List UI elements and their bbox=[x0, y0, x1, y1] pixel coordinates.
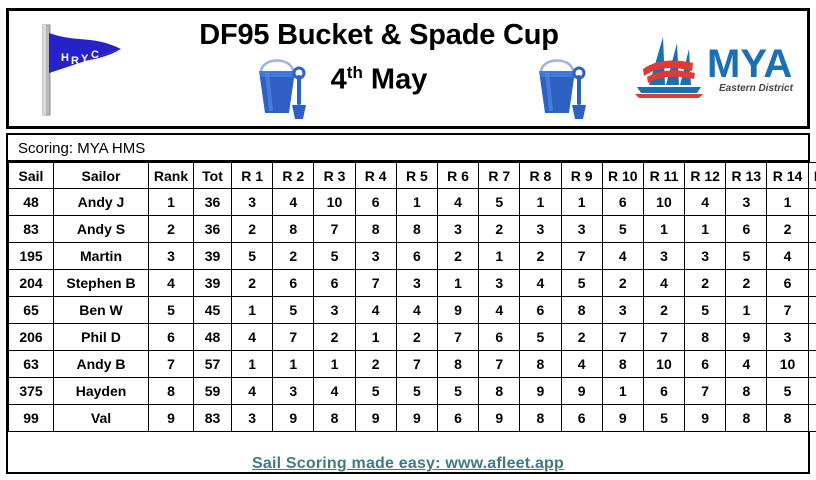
cell-sail-number: 375 bbox=[9, 378, 54, 405]
results-table-header: Sail Sailor Rank Tot R 1 R 2 R 3 R 4 R 5… bbox=[9, 163, 816, 189]
cell-race-score-r14: 2 bbox=[767, 216, 808, 243]
cell-sail-number: 206 bbox=[9, 324, 54, 351]
cell-race-score-r14: 6 bbox=[767, 270, 808, 297]
cell-race-score-r11: 7 bbox=[643, 324, 684, 351]
cell-race-score-r8: 8 bbox=[520, 405, 561, 432]
column-header-r1: R 1 bbox=[232, 163, 273, 189]
cell-race-score-r2: 1 bbox=[273, 351, 314, 378]
column-header-r6: R 6 bbox=[437, 163, 478, 189]
cell-race-score-r8: 5 bbox=[520, 324, 561, 351]
cell-race-score-r7: 8 bbox=[479, 378, 520, 405]
column-header-r11: R 11 bbox=[643, 163, 684, 189]
event-date-day: 4 bbox=[331, 64, 347, 96]
cell-race-score-r10: 5 bbox=[602, 216, 643, 243]
svg-text:Y: Y bbox=[81, 53, 89, 65]
cell-race-score-r2: 5 bbox=[273, 297, 314, 324]
cell-race-score-r15: 3 bbox=[808, 189, 816, 216]
cell-race-score-r14: 8 bbox=[767, 405, 808, 432]
cell-race-score-r8: 6 bbox=[520, 297, 561, 324]
cell-race-score-r15: 10 bbox=[808, 351, 816, 378]
cell-race-score-r7: 1 bbox=[479, 243, 520, 270]
cell-race-score-r9: 2 bbox=[561, 324, 602, 351]
cell-race-score-r10: 8 bbox=[602, 351, 643, 378]
cell-race-score-r7: 7 bbox=[479, 351, 520, 378]
cell-race-score-r13: 1 bbox=[726, 297, 767, 324]
cell-sailor-name: Andy B bbox=[54, 351, 149, 378]
cell-race-score-r8: 9 bbox=[520, 378, 561, 405]
column-header-r9: R 9 bbox=[561, 163, 602, 189]
column-header-r5: R 5 bbox=[396, 163, 437, 189]
column-header-sailor: Sailor bbox=[54, 163, 149, 189]
cell-race-score-r9: 7 bbox=[561, 243, 602, 270]
cell-race-score-r1: 3 bbox=[232, 405, 273, 432]
column-header-r4: R 4 bbox=[355, 163, 396, 189]
table-row[interactable]: 99Val983398996986959884 bbox=[9, 405, 816, 432]
cell-sail-number: 204 bbox=[9, 270, 54, 297]
cell-total-points: 57 bbox=[194, 351, 232, 378]
title-block: DF95 Bucket & Spade Cup 4th May bbox=[139, 11, 619, 126]
cell-race-score-r11: 10 bbox=[643, 189, 684, 216]
cell-sail-number: 99 bbox=[9, 405, 54, 432]
cell-race-score-r4: 7 bbox=[355, 270, 396, 297]
cell-total-points: 59 bbox=[194, 378, 232, 405]
cell-race-score-r12: 4 bbox=[685, 189, 726, 216]
cell-race-score-r11: 1 bbox=[643, 216, 684, 243]
column-header-r15: R 15 bbox=[808, 163, 816, 189]
cell-total-points: 48 bbox=[194, 324, 232, 351]
cell-race-score-r11: 10 bbox=[643, 351, 684, 378]
cell-race-score-r12: 8 bbox=[685, 324, 726, 351]
cell-race-score-r2: 8 bbox=[273, 216, 314, 243]
table-row[interactable]: 204Stephen B439266731345242265 bbox=[9, 270, 816, 297]
cell-race-score-r6: 5 bbox=[437, 378, 478, 405]
cell-race-score-r9: 8 bbox=[561, 297, 602, 324]
cell-race-score-r6: 6 bbox=[437, 405, 478, 432]
cell-race-score-r8: 1 bbox=[520, 189, 561, 216]
cell-race-score-r1: 2 bbox=[232, 216, 273, 243]
event-title: DF95 Bucket & Spade Cup bbox=[139, 19, 619, 52]
cell-race-score-r3: 8 bbox=[314, 405, 355, 432]
cell-race-score-r5: 7 bbox=[396, 351, 437, 378]
cell-race-score-r15: 2 bbox=[808, 324, 816, 351]
cell-race-score-r3: 2 bbox=[314, 324, 355, 351]
cell-race-score-r6: 4 bbox=[437, 189, 478, 216]
cell-race-score-r7: 4 bbox=[479, 297, 520, 324]
svg-text:H: H bbox=[61, 52, 70, 64]
cell-race-score-r10: 9 bbox=[602, 405, 643, 432]
cell-total-points: 36 bbox=[194, 216, 232, 243]
cell-race-score-r1: 4 bbox=[232, 324, 273, 351]
cell-race-score-r13: 4 bbox=[726, 351, 767, 378]
cell-rank: 5 bbox=[149, 297, 194, 324]
column-header-r12: R 12 bbox=[685, 163, 726, 189]
column-header-r3: R 3 bbox=[314, 163, 355, 189]
cell-sailor-name: Phil D bbox=[54, 324, 149, 351]
cell-race-score-r13: 6 bbox=[726, 216, 767, 243]
cell-race-score-r5: 6 bbox=[396, 243, 437, 270]
cell-race-score-r5: 8 bbox=[396, 216, 437, 243]
cell-race-score-r1: 4 bbox=[232, 378, 273, 405]
cell-sail-number: 63 bbox=[9, 351, 54, 378]
scoring-system-note: Scoring: MYA HMS bbox=[8, 135, 808, 162]
cell-total-points: 36 bbox=[194, 189, 232, 216]
cell-race-score-r15: 7 bbox=[808, 243, 816, 270]
column-header-r14: R 14 bbox=[767, 163, 808, 189]
cell-race-score-r13: 8 bbox=[726, 405, 767, 432]
cell-race-score-r11: 4 bbox=[643, 270, 684, 297]
cell-total-points: 45 bbox=[194, 297, 232, 324]
cell-race-score-r4: 4 bbox=[355, 297, 396, 324]
cell-race-score-r1: 2 bbox=[232, 270, 273, 297]
results-sheet: Scoring: MYA HMS Sail Sailor Rank Tot R … bbox=[6, 133, 810, 474]
afleet-link[interactable]: Sail Scoring made easy: www.afleet.app bbox=[252, 455, 564, 473]
column-header-sail: Sail bbox=[9, 163, 54, 189]
cell-race-score-r3: 7 bbox=[314, 216, 355, 243]
cell-race-score-r12: 9 bbox=[685, 405, 726, 432]
cell-race-score-r5: 4 bbox=[396, 297, 437, 324]
cell-race-score-r9: 6 bbox=[561, 405, 602, 432]
cell-race-score-r9: 5 bbox=[561, 270, 602, 297]
cell-race-score-r10: 3 bbox=[602, 297, 643, 324]
cell-race-score-r12: 6 bbox=[685, 351, 726, 378]
cell-sail-number: 83 bbox=[9, 216, 54, 243]
cell-race-score-r11: 2 bbox=[643, 297, 684, 324]
cell-race-score-r15: 4 bbox=[808, 405, 816, 432]
cell-total-points: 83 bbox=[194, 405, 232, 432]
results-table-body: 48Andy J1363410614511610431383Andy S2362… bbox=[9, 189, 816, 432]
cell-race-score-r2: 4 bbox=[273, 189, 314, 216]
cell-race-score-r6: 8 bbox=[437, 351, 478, 378]
cell-race-score-r12: 3 bbox=[685, 243, 726, 270]
cell-rank: 1 bbox=[149, 189, 194, 216]
table-row[interactable]: 375Hayden859434555899167856 bbox=[9, 378, 816, 405]
cell-race-score-r15: 6 bbox=[808, 378, 816, 405]
cell-race-score-r14: 10 bbox=[767, 351, 808, 378]
cell-sailor-name: Val bbox=[54, 405, 149, 432]
cell-race-score-r7: 6 bbox=[479, 324, 520, 351]
cell-race-score-r12: 1 bbox=[685, 216, 726, 243]
cell-race-score-r4: 3 bbox=[355, 243, 396, 270]
cell-race-score-r11: 3 bbox=[643, 243, 684, 270]
cell-race-score-r1: 5 bbox=[232, 243, 273, 270]
header-row: Sail Sailor Rank Tot R 1 R 2 R 3 R 4 R 5… bbox=[9, 163, 816, 189]
cell-race-score-r2: 9 bbox=[273, 405, 314, 432]
column-header-r7: R 7 bbox=[479, 163, 520, 189]
cell-race-score-r3: 4 bbox=[314, 378, 355, 405]
cell-race-score-r15: 1 bbox=[808, 216, 816, 243]
column-header-rank: Rank bbox=[149, 163, 194, 189]
cell-rank: 8 bbox=[149, 378, 194, 405]
cell-race-score-r5: 5 bbox=[396, 378, 437, 405]
cell-race-score-r14: 4 bbox=[767, 243, 808, 270]
column-header-total: Tot bbox=[194, 163, 232, 189]
cell-race-score-r9: 3 bbox=[561, 216, 602, 243]
cell-sailor-name: Stephen B bbox=[54, 270, 149, 297]
cell-race-score-r8: 3 bbox=[520, 216, 561, 243]
bucket-and-spade-icon-left bbox=[247, 49, 319, 126]
cell-race-score-r9: 4 bbox=[561, 351, 602, 378]
cell-race-score-r12: 5 bbox=[685, 297, 726, 324]
cell-race-score-r10: 4 bbox=[602, 243, 643, 270]
mya-logo-wordmark: MYA bbox=[707, 42, 792, 86]
cell-race-score-r3: 5 bbox=[314, 243, 355, 270]
cell-race-score-r3: 6 bbox=[314, 270, 355, 297]
table-row[interactable]: 48Andy J13634106145116104313 bbox=[9, 189, 816, 216]
cell-rank: 6 bbox=[149, 324, 194, 351]
event-date-month: May bbox=[371, 64, 427, 96]
cell-race-score-r5: 3 bbox=[396, 270, 437, 297]
cell-race-score-r8: 8 bbox=[520, 351, 561, 378]
cell-race-score-r3: 1 bbox=[314, 351, 355, 378]
cell-race-score-r14: 3 bbox=[767, 324, 808, 351]
svg-text:C: C bbox=[91, 49, 99, 61]
table-row[interactable]: 206Phil D648472127652778932 bbox=[9, 324, 816, 351]
cell-total-points: 39 bbox=[194, 270, 232, 297]
cell-race-score-r10: 6 bbox=[602, 189, 643, 216]
cell-race-score-r4: 9 bbox=[355, 405, 396, 432]
cell-race-score-r14: 1 bbox=[767, 189, 808, 216]
cell-race-score-r4: 5 bbox=[355, 378, 396, 405]
cell-rank: 3 bbox=[149, 243, 194, 270]
cell-race-score-r11: 6 bbox=[643, 378, 684, 405]
cell-sailor-name: Andy S bbox=[54, 216, 149, 243]
cell-rank: 4 bbox=[149, 270, 194, 297]
cell-race-score-r6: 3 bbox=[437, 216, 478, 243]
cell-race-score-r2: 3 bbox=[273, 378, 314, 405]
table-row[interactable]: 195Martin339525362127433547 bbox=[9, 243, 816, 270]
cell-rank: 2 bbox=[149, 216, 194, 243]
cell-race-score-r14: 7 bbox=[767, 297, 808, 324]
cell-race-score-r8: 4 bbox=[520, 270, 561, 297]
cell-race-score-r4: 6 bbox=[355, 189, 396, 216]
cell-race-score-r6: 9 bbox=[437, 297, 478, 324]
cell-race-score-r1: 3 bbox=[232, 189, 273, 216]
cell-race-score-r8: 2 bbox=[520, 243, 561, 270]
footer: Sail Scoring made easy: www.afleet.app bbox=[6, 450, 810, 478]
cell-race-score-r10: 7 bbox=[602, 324, 643, 351]
cell-race-score-r3: 3 bbox=[314, 297, 355, 324]
cell-sail-number: 195 bbox=[9, 243, 54, 270]
mya-logo-subtext: Eastern District bbox=[719, 83, 794, 94]
cell-race-score-r13: 9 bbox=[726, 324, 767, 351]
cell-race-score-r13: 8 bbox=[726, 378, 767, 405]
cell-race-score-r6: 7 bbox=[437, 324, 478, 351]
bucket-and-spade-icon-right bbox=[527, 49, 599, 126]
event-date-ordinal: th bbox=[347, 63, 363, 82]
mya-eastern-district-logo: MYA Eastern District bbox=[619, 19, 799, 119]
cell-race-score-r7: 5 bbox=[479, 189, 520, 216]
cell-race-score-r3: 10 bbox=[314, 189, 355, 216]
cell-race-score-r13: 2 bbox=[726, 270, 767, 297]
cell-sailor-name: Martin bbox=[54, 243, 149, 270]
cell-race-score-r1: 1 bbox=[232, 351, 273, 378]
cell-race-score-r2: 7 bbox=[273, 324, 314, 351]
cell-race-score-r15: 5 bbox=[808, 270, 816, 297]
cell-race-score-r6: 2 bbox=[437, 243, 478, 270]
cell-race-score-r1: 1 bbox=[232, 297, 273, 324]
column-header-r10: R 10 bbox=[602, 163, 643, 189]
hryc-burgee-icon: H R Y C bbox=[9, 11, 139, 126]
table-row[interactable]: 83Andy S236287883233511621 bbox=[9, 216, 816, 243]
cell-race-score-r2: 2 bbox=[273, 243, 314, 270]
cell-race-score-r4: 1 bbox=[355, 324, 396, 351]
cell-race-score-r10: 1 bbox=[602, 378, 643, 405]
event-banner: H R Y C DF95 Bucket & Spade Cup 4th May bbox=[6, 8, 810, 129]
cell-race-score-r12: 2 bbox=[685, 270, 726, 297]
results-page: H R Y C DF95 Bucket & Spade Cup 4th May bbox=[0, 0, 816, 480]
cell-race-score-r10: 2 bbox=[602, 270, 643, 297]
cell-race-score-r9: 9 bbox=[561, 378, 602, 405]
cell-race-score-r7: 3 bbox=[479, 270, 520, 297]
column-header-r8: R 8 bbox=[520, 163, 561, 189]
cell-sailor-name: Hayden bbox=[54, 378, 149, 405]
cell-sail-number: 65 bbox=[9, 297, 54, 324]
cell-race-score-r4: 2 bbox=[355, 351, 396, 378]
table-row[interactable]: 65Ben W545153449468325178 bbox=[9, 297, 816, 324]
cell-race-score-r9: 1 bbox=[561, 189, 602, 216]
cell-race-score-r7: 9 bbox=[479, 405, 520, 432]
cell-race-score-r14: 5 bbox=[767, 378, 808, 405]
svg-text:R: R bbox=[71, 55, 79, 67]
cell-race-score-r7: 2 bbox=[479, 216, 520, 243]
cell-race-score-r13: 3 bbox=[726, 189, 767, 216]
results-table: Sail Sailor Rank Tot R 1 R 2 R 3 R 4 R 5… bbox=[8, 162, 816, 432]
column-header-r2: R 2 bbox=[273, 163, 314, 189]
cell-race-score-r5: 2 bbox=[396, 324, 437, 351]
cell-race-score-r6: 1 bbox=[437, 270, 478, 297]
table-row[interactable]: 63Andy B757111278784810641010 bbox=[9, 351, 816, 378]
cell-sailor-name: Ben W bbox=[54, 297, 149, 324]
cell-sail-number: 48 bbox=[9, 189, 54, 216]
cell-rank: 7 bbox=[149, 351, 194, 378]
cell-race-score-r2: 6 bbox=[273, 270, 314, 297]
cell-race-score-r13: 5 bbox=[726, 243, 767, 270]
column-header-r13: R 13 bbox=[726, 163, 767, 189]
cell-rank: 9 bbox=[149, 405, 194, 432]
cell-race-score-r12: 7 bbox=[685, 378, 726, 405]
cell-race-score-r15: 8 bbox=[808, 297, 816, 324]
cell-race-score-r5: 1 bbox=[396, 189, 437, 216]
cell-race-score-r4: 8 bbox=[355, 216, 396, 243]
cell-sailor-name: Andy J bbox=[54, 189, 149, 216]
cell-race-score-r11: 5 bbox=[643, 405, 684, 432]
cell-total-points: 39 bbox=[194, 243, 232, 270]
cell-race-score-r5: 9 bbox=[396, 405, 437, 432]
